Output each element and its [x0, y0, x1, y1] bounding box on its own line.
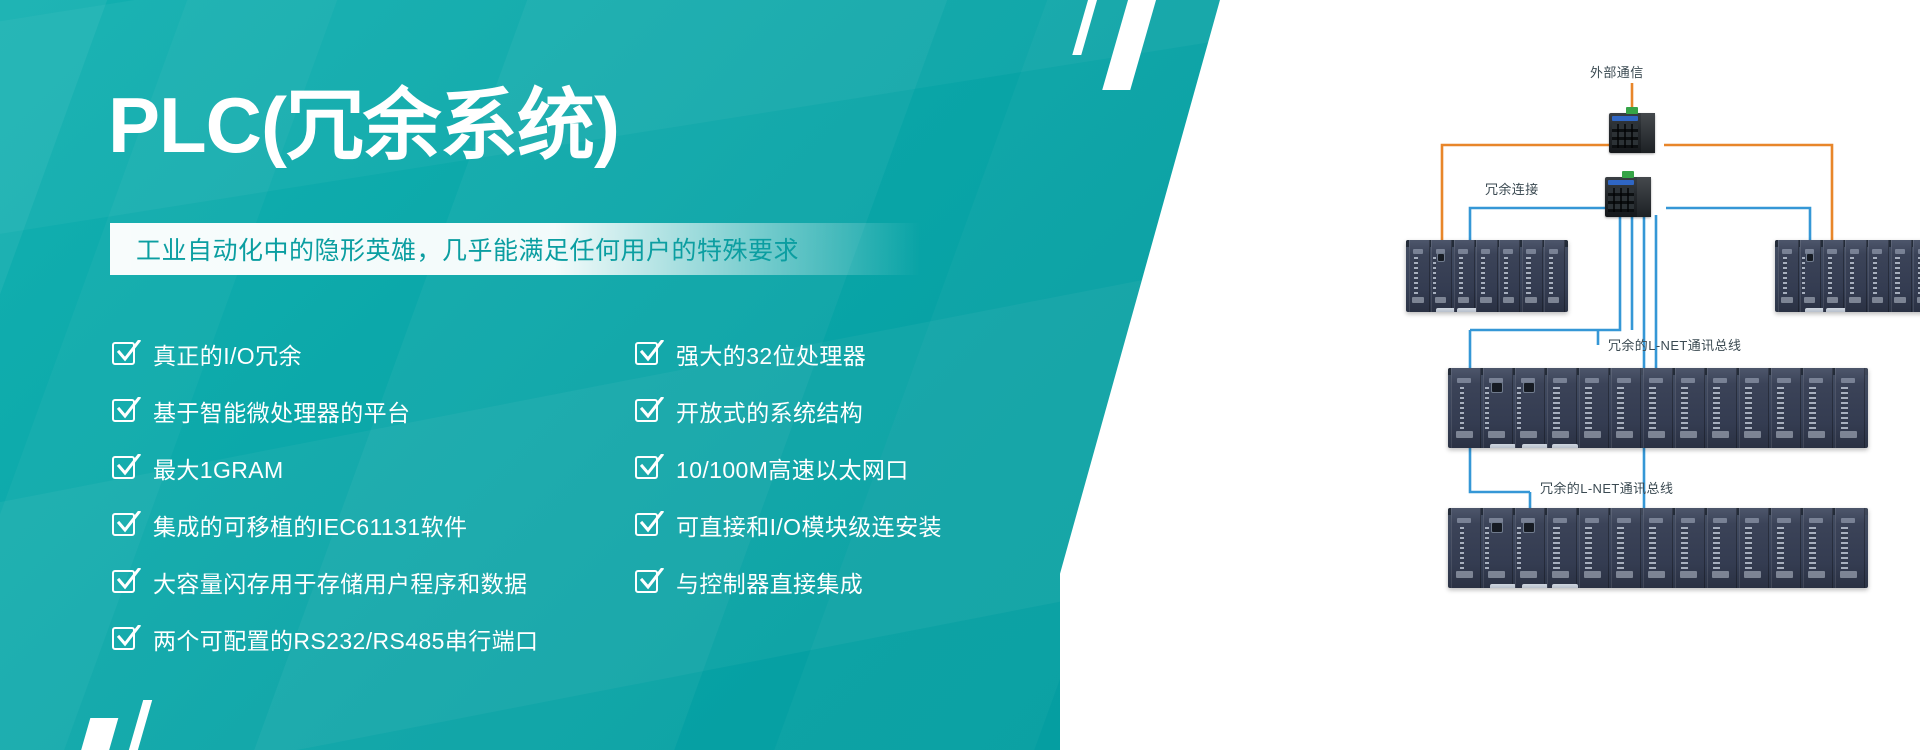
- plc-module-io: [1579, 368, 1610, 448]
- plc-module: [1823, 240, 1844, 312]
- checkbox-checked-icon: [112, 568, 139, 595]
- feature-label: 与控制器直接集成: [662, 565, 863, 599]
- checkbox-checked-icon: [635, 568, 662, 595]
- feature-label: 真正的I/O冗余: [139, 337, 302, 371]
- switch-status-led: [1608, 180, 1634, 185]
- plc-module-cpu: [1800, 240, 1821, 312]
- plc-module: [1522, 240, 1543, 312]
- feature-item: 两个可配置的RS232/RS485串行端口: [112, 610, 632, 667]
- plc-module-cpu: [1483, 508, 1514, 588]
- plc-module-io: [1803, 508, 1834, 588]
- label-external-comm: 外部通信: [1590, 62, 1644, 81]
- plc-module-io: [1707, 368, 1738, 448]
- plc-module-io: [1675, 368, 1706, 448]
- plc-module: [1778, 240, 1799, 312]
- plc-module-io: [1835, 508, 1866, 588]
- plc-topology-diagram: 外部通信 冗余连接 冗余的L-NET通讯总线 冗余的L-NET通讯总线: [1220, 0, 1920, 750]
- plc-module-cpu: [1431, 240, 1452, 312]
- checkbox-checked-icon: [112, 340, 139, 367]
- plc-module: [1845, 240, 1866, 312]
- label-lnet-bus-upper: 冗余的L-NET通讯总线: [1608, 335, 1741, 354]
- plc-rack-cpu-a: [1406, 240, 1568, 312]
- switch-body-side: [1641, 113, 1655, 153]
- plc-module-cpu: [1483, 368, 1514, 448]
- feature-label: 集成的可移植的IEC61131软件: [139, 508, 467, 542]
- plc-module-power: [1451, 368, 1482, 448]
- switch-body-side: [1637, 177, 1651, 217]
- label-redundant-link: 冗余连接: [1485, 179, 1539, 198]
- feature-item: 可直接和I/O模块级连安装: [635, 496, 1155, 553]
- feature-label: 两个可配置的RS232/RS485串行端口: [139, 622, 538, 656]
- plc-module-io: [1707, 508, 1738, 588]
- plc-rack-io-lower: [1448, 508, 1868, 588]
- feature-label: 10/100M高速以太网口: [662, 451, 909, 485]
- plc-module-io: [1643, 368, 1674, 448]
- feature-column-left: 真正的I/O冗余 基于智能微处理器的平台 最大1GRAM: [112, 325, 632, 667]
- plc-module-io: [1803, 368, 1834, 448]
- feature-item: 与控制器直接集成: [635, 553, 1155, 610]
- checkbox-checked-icon: [635, 340, 662, 367]
- feature-label: 强大的32位处理器: [662, 337, 866, 371]
- plc-module-io: [1611, 508, 1642, 588]
- network-switch-middle: [1605, 177, 1651, 217]
- plc-module: [1454, 240, 1475, 312]
- decor-slash-top-right-thin: [1072, 0, 1103, 55]
- plc-module-io: [1547, 508, 1578, 588]
- checkbox-checked-icon: [112, 454, 139, 481]
- plc-module-io: [1611, 368, 1642, 448]
- plc-module: [1913, 240, 1920, 312]
- banner-stage: PLC(冗余系统) 工业自动化中的隐形英雄，几乎能满足任何用户的特殊要求 真正的…: [0, 0, 1920, 750]
- label-lnet-bus-lower: 冗余的L-NET通讯总线: [1540, 478, 1673, 497]
- plc-module-io: [1771, 508, 1802, 588]
- switch-status-led: [1612, 116, 1638, 121]
- subtitle-text: 工业自动化中的隐形英雄，几乎能满足任何用户的特殊要求: [110, 231, 799, 267]
- feature-item: 强大的32位处理器: [635, 325, 1155, 382]
- checkbox-checked-icon: [635, 454, 662, 481]
- plc-module: [1409, 240, 1430, 312]
- checkbox-checked-icon: [112, 397, 139, 424]
- plc-rack-cpu-b: [1775, 240, 1920, 312]
- checkbox-checked-icon: [112, 625, 139, 652]
- feature-label: 基于智能微处理器的平台: [139, 394, 410, 428]
- checkbox-checked-icon: [635, 397, 662, 424]
- plc-rack-io-upper: [1448, 368, 1868, 448]
- plc-module-io: [1579, 508, 1610, 588]
- decor-slash-bottom-left-thick: [62, 718, 119, 750]
- plc-module: [1891, 240, 1912, 312]
- feature-item: 基于智能微处理器的平台: [112, 382, 632, 439]
- plc-module-io: [1547, 368, 1578, 448]
- feature-column-right: 强大的32位处理器 开放式的系统结构 10/100M高速以太网口: [635, 325, 1155, 610]
- subtitle-banner: 工业自动化中的隐形英雄，几乎能满足任何用户的特殊要求: [110, 223, 920, 275]
- page-title: PLC(冗余系统): [108, 86, 619, 164]
- network-switch-top: [1609, 113, 1655, 153]
- feature-item: 10/100M高速以太网口: [635, 439, 1155, 496]
- plc-module-cpu: [1515, 508, 1546, 588]
- plc-module-io: [1771, 368, 1802, 448]
- plc-module-cpu: [1515, 368, 1546, 448]
- plc-module-io: [1643, 508, 1674, 588]
- feature-item: 最大1GRAM: [112, 439, 632, 496]
- plc-module-power: [1451, 508, 1482, 588]
- feature-item: 开放式的系统结构: [635, 382, 1155, 439]
- plc-module-io: [1835, 368, 1866, 448]
- feature-label: 大容量闪存用于存储用户程序和数据: [139, 565, 527, 599]
- plc-module: [1868, 240, 1889, 312]
- plc-module-io: [1739, 508, 1770, 588]
- feature-label: 可直接和I/O模块级连安装: [662, 508, 942, 542]
- feature-item: 集成的可移植的IEC61131软件: [112, 496, 632, 553]
- plc-module-io: [1739, 368, 1770, 448]
- plc-module: [1499, 240, 1520, 312]
- checkbox-checked-icon: [112, 511, 139, 538]
- switch-ports: [1612, 124, 1638, 148]
- feature-item: 大容量闪存用于存储用户程序和数据: [112, 553, 632, 610]
- switch-green-connector-icon: [1622, 171, 1634, 178]
- plc-module: [1476, 240, 1497, 312]
- feature-label: 最大1GRAM: [139, 451, 284, 485]
- checkbox-checked-icon: [635, 511, 662, 538]
- decor-slash-top-right-thick: [1102, 0, 1162, 90]
- switch-green-connector-icon: [1626, 107, 1638, 114]
- plc-module-io: [1675, 508, 1706, 588]
- feature-item: 真正的I/O冗余: [112, 325, 632, 382]
- switch-ports: [1608, 188, 1634, 212]
- feature-label: 开放式的系统结构: [662, 394, 863, 428]
- plc-module: [1544, 240, 1565, 312]
